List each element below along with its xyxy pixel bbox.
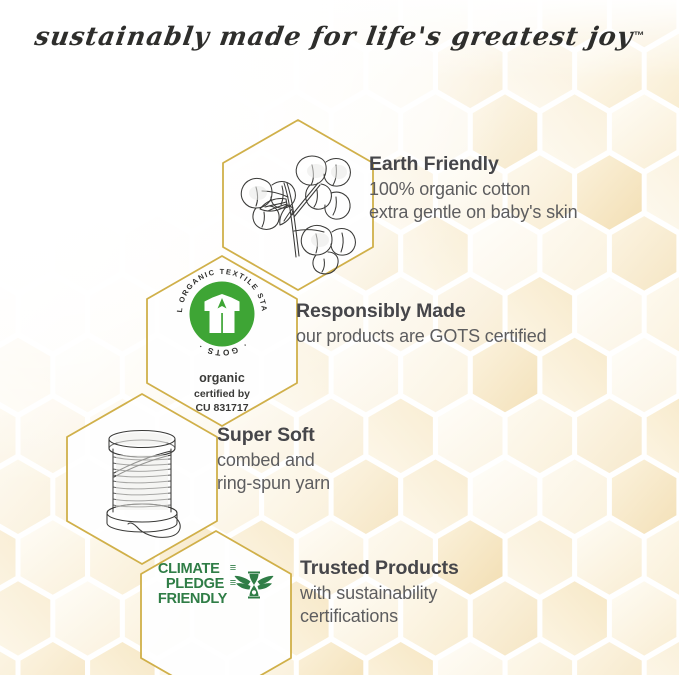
feature-line-2: ring-spun yarn: [217, 472, 477, 495]
cpf-line-2: PLEDGE: [166, 576, 224, 592]
feature-text-responsibly-made: Responsibly Made our products are GOTS c…: [296, 300, 626, 348]
winged-hourglass-icon: [234, 568, 274, 602]
feature-heading: Responsibly Made: [296, 300, 626, 323]
feature-text-trusted-products: Trusted Products with sustainability cer…: [300, 557, 630, 629]
feature-line-1: 100% organic cotton: [369, 178, 669, 201]
feature-heading: Super Soft: [217, 424, 477, 447]
trademark-symbol: ™: [633, 30, 644, 42]
feature-text-super-soft: Super Soft combed and ring-spun yarn: [217, 424, 477, 496]
gots-caption-organic: organic: [171, 371, 273, 385]
tagline: sustainably made for life's greatest joy…: [0, 22, 679, 52]
cpf-line-1: CLIMATE: [158, 561, 220, 577]
gots-seal-graphic: GLOBAL ORGANIC TEXTILE STANDARD · GOTS ·: [171, 263, 273, 365]
climate-pledge-friendly-badge: CLIMATE ≡ PLEDGE ≡ FRIENDLY: [158, 562, 274, 608]
cpf-line-3: FRIENDLY: [158, 591, 227, 607]
feature-line-1: our products are GOTS certified: [296, 325, 626, 348]
product-infographic: sustainably made for life's greatest joy…: [0, 0, 679, 675]
feature-heading: Earth Friendly: [369, 153, 669, 176]
tagline-text: sustainably made for life's greatest joy: [32, 22, 635, 52]
feature-line-1: with sustainability: [300, 582, 630, 605]
hex-tile-trusted-products: CLIMATE ≡ PLEDGE ≡ FRIENDLY: [137, 528, 295, 675]
feature-heading: Trusted Products: [300, 557, 630, 580]
climate-pledge-wordmark: CLIMATE ≡ PLEDGE ≡ FRIENDLY: [158, 562, 227, 608]
thread-spool-illustration: [80, 415, 204, 545]
feature-line-1: combed and: [217, 449, 477, 472]
feature-text-earth-friendly: Earth Friendly 100% organic cotton extra…: [369, 153, 669, 225]
feature-line-2: extra gentle on baby's skin: [369, 201, 669, 224]
feature-line-2: certifications: [300, 605, 630, 628]
